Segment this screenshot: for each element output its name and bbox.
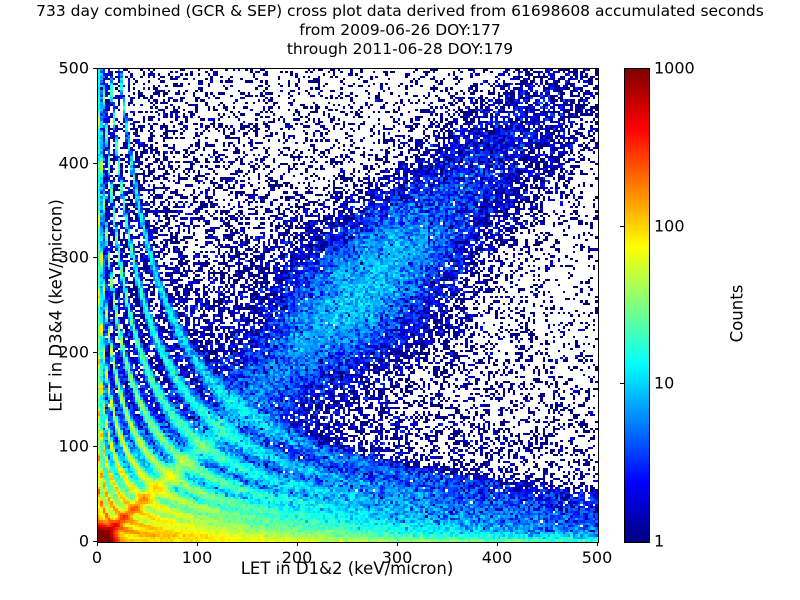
colorbar-tick-label-1: 1 xyxy=(654,532,664,551)
y-tick-mark-300 xyxy=(93,257,97,258)
x-tick-mark-0 xyxy=(97,542,98,546)
colorbar xyxy=(624,68,650,543)
colorbar-tick-label-10: 10 xyxy=(654,374,674,393)
colorbar-label: Counts xyxy=(728,64,747,564)
colorbar-tick-label-1000: 1000 xyxy=(654,59,695,78)
y-tick-mark-100 xyxy=(93,446,97,447)
figure-canvas: 733 day combined (GCR & SEP) cross plot … xyxy=(0,0,800,600)
y-tick-mark-200 xyxy=(93,352,97,353)
x-tick-mark-500 xyxy=(597,542,598,546)
colorbar-gradient xyxy=(625,69,649,542)
colorbar-tick-mark-100 xyxy=(620,226,624,227)
x-tick-mark-100 xyxy=(197,542,198,546)
heatmap-image xyxy=(98,69,598,542)
title-line-2: from 2009-06-26 DOY:177 xyxy=(0,21,800,40)
x-axis-label: LET in D1&2 (keV/micron) xyxy=(97,559,597,578)
y-axis-label: LET in D3&4 (keV/micron) xyxy=(47,56,66,556)
y-tick-mark-400 xyxy=(93,163,97,164)
colorbar-tick-mark-10 xyxy=(620,383,624,384)
plot-title: 733 day combined (GCR & SEP) cross plot … xyxy=(0,2,800,59)
title-line-3: through 2011-06-28 DOY:179 xyxy=(0,40,800,59)
y-tick-mark-0 xyxy=(93,541,97,542)
colorbar-tick-label-100: 100 xyxy=(654,216,685,235)
x-tick-mark-300 xyxy=(397,542,398,546)
y-tick-mark-500 xyxy=(93,68,97,69)
x-tick-mark-200 xyxy=(297,542,298,546)
title-line-1: 733 day combined (GCR & SEP) cross plot … xyxy=(0,2,800,21)
x-tick-mark-400 xyxy=(497,542,498,546)
plot-axes xyxy=(97,68,599,543)
